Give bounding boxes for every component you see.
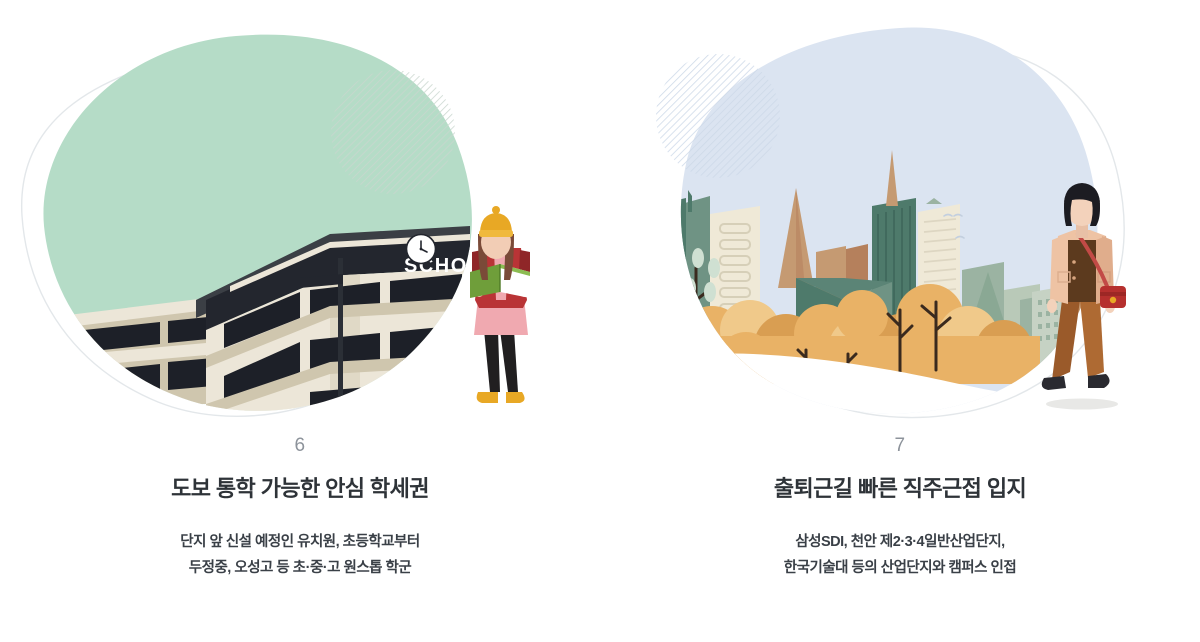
panel-headline-commute: 출퇴근길 빠른 직주근접 입지 bbox=[600, 475, 1200, 503]
caption-commute-location: 7 출퇴근길 빠른 직주근접 입지 삼성SDI, 천안 제2·3·4일반산업단지… bbox=[600, 432, 1200, 582]
subline-line-2: 한국기술대 등의 산업단지와 캠퍼스 인접 bbox=[600, 555, 1200, 582]
subline-line-1: 삼성SDI, 천안 제2·3·4일반산업단지, bbox=[600, 529, 1200, 556]
hatch-circle-left bbox=[331, 70, 455, 194]
tower-green-left bbox=[660, 190, 710, 380]
panel-subline-school: 단지 앞 신설 예정인 유치원, 초등학교부터 두정중, 오성고 등 초·중·고… bbox=[0, 529, 600, 583]
handbag bbox=[1100, 286, 1126, 308]
hatch-circle-right bbox=[656, 54, 780, 178]
panel-subline-commute: 삼성SDI, 천안 제2·3·4일반산업단지, 한국기술대 등의 산업단지와 캠… bbox=[600, 529, 1200, 583]
student-figure bbox=[470, 206, 530, 403]
caption-school-district: 6 도보 통학 가능한 안심 학세권 단지 앞 신설 예정인 유치원, 초등학교… bbox=[0, 432, 600, 582]
commuter-shadow bbox=[1046, 399, 1118, 410]
school-clock bbox=[407, 235, 436, 264]
feature-highlight-board: SCHOOL bbox=[0, 0, 1200, 642]
subline-line-2: 두정중, 오성고 등 초·중·고 원스톱 학군 bbox=[0, 555, 600, 582]
panel-school-district: SCHOOL bbox=[0, 0, 600, 642]
subline-line-1: 단지 앞 신설 예정인 유치원, 초등학교부터 bbox=[0, 529, 600, 556]
panel-headline-school: 도보 통학 가능한 안심 학세권 bbox=[0, 475, 600, 503]
school-illustration: SCHOOL bbox=[0, 0, 600, 432]
city-illustration bbox=[600, 0, 1200, 432]
panel-index-7: 7 bbox=[600, 436, 1200, 455]
panel-commute-location: 7 출퇴근길 빠른 직주근접 입지 삼성SDI, 천안 제2·3·4일반산업단지… bbox=[600, 0, 1200, 642]
panel-index-6: 6 bbox=[0, 436, 600, 455]
